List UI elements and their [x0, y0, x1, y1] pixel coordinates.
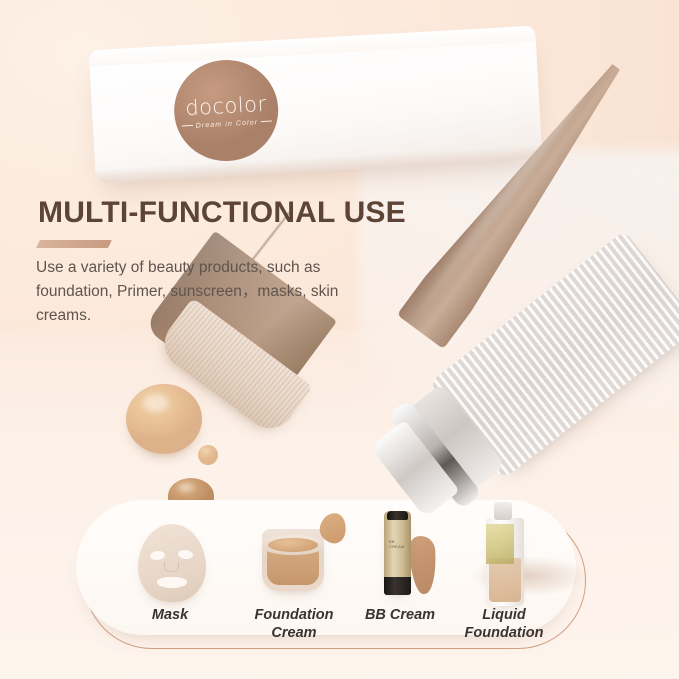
product-infographic: docolor Dream in Color MULTI-FUNCTIONAL …: [0, 0, 679, 679]
product-label-foundation-cream: Foundation Cream: [232, 606, 356, 642]
jar-cream-surface: [268, 538, 318, 552]
mask-eye-left: [150, 550, 166, 561]
small-bottle-liquid: [489, 558, 521, 602]
mask-eye-right: [178, 549, 194, 560]
foundation-jar: [262, 529, 324, 591]
product-label-bb-cream: BB Cream: [348, 606, 452, 624]
mask-nose: [164, 562, 179, 572]
page-title: MULTI-FUNCTIONAL USE: [38, 196, 406, 230]
tube-shoulder: [387, 511, 408, 520]
description-text: Use a variety of beauty products, such a…: [36, 256, 356, 328]
foundation-droplet-small: [198, 445, 218, 465]
sheet-mask-icon: [138, 524, 206, 602]
product-label-liquid-foundation: Liquid Foundation: [442, 606, 566, 642]
bb-cream-tube: BB CREAM: [384, 511, 411, 595]
mask-mouth: [157, 577, 187, 588]
liquid-foundation-small-bottle: [486, 518, 524, 606]
product-label-mask: Mask: [112, 606, 228, 624]
title-divider: [36, 240, 112, 248]
tube-label-text: BB CREAM: [389, 539, 407, 549]
small-bottle-neck: [494, 502, 512, 520]
foundation-droplet-large: [126, 384, 202, 454]
small-bottle-label: [486, 524, 514, 564]
tube-cap: [384, 577, 411, 595]
